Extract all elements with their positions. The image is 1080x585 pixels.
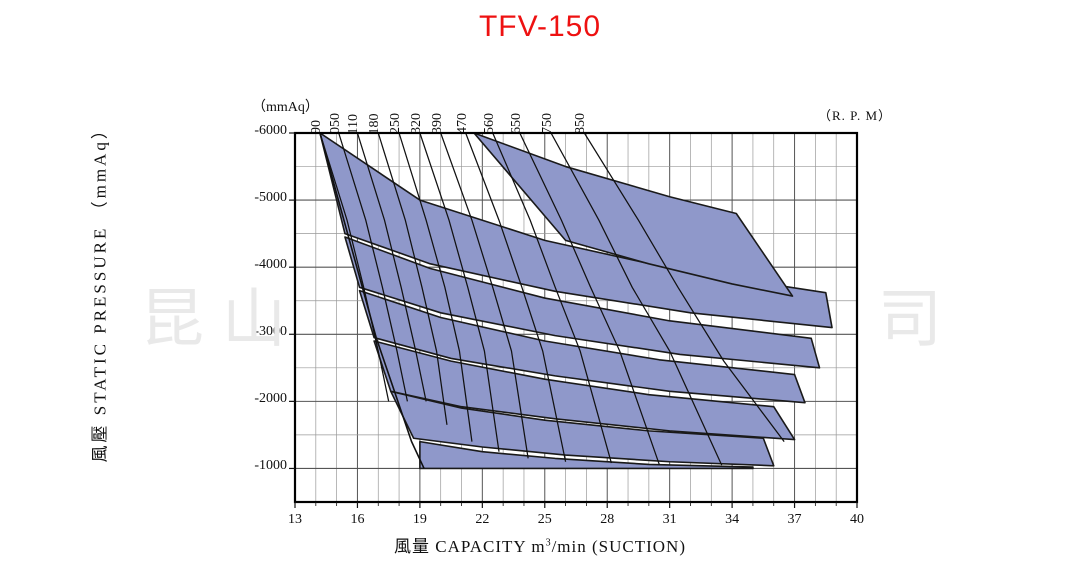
performance-chart-svg xyxy=(0,0,1080,580)
chart-page: TFV-150 昆山大风机械有限公司 （mmAq） （R. P. M） 9901… xyxy=(0,0,1080,580)
chart-area xyxy=(0,0,1080,580)
